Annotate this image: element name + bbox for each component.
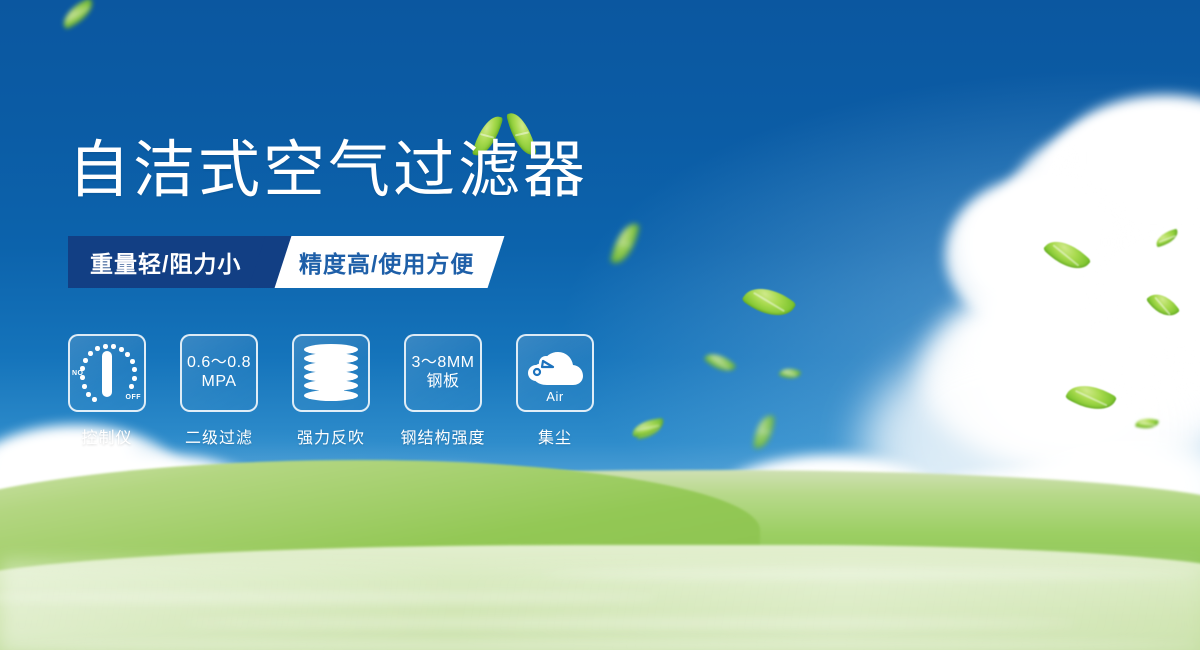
feature-icon-box: NO OFF <box>68 334 146 412</box>
feature-item-two-stage-filter[interactable]: 0.6～0.8 MPA 二级过滤 <box>180 334 258 448</box>
feature-label: 强力反吹 <box>297 424 365 448</box>
steel-material-line: 钢板 <box>412 373 475 392</box>
subtitle-left-segment: 重量轻/阻力小 <box>68 236 271 288</box>
feature-item-dust-collection[interactable]: Air 集尘 <box>516 334 594 448</box>
feature-list: NO OFF 控制仪 0.6～0.8 MPA 二级过滤 <box>68 334 594 448</box>
feature-icon-box <box>292 334 370 412</box>
air-cloud-icon: Air <box>523 343 587 403</box>
pressure-unit-line: MPA <box>187 373 251 392</box>
pressure-range-line: 0.6～0.8 <box>187 354 251 373</box>
gauge-off-label: OFF <box>126 394 142 401</box>
feature-icon-box: Air <box>516 334 594 412</box>
promo-banner: 自洁式空气过滤器 重量轻/阻力小 精度高/使用方便 <box>0 0 1200 650</box>
feature-label: 集尘 <box>538 424 572 448</box>
subtitle-right-segment: 精度高/使用方便 <box>263 236 505 288</box>
feature-icon-box: 3～8MM 钢板 <box>404 334 482 412</box>
filter-cartridge-icon <box>304 344 358 402</box>
steel-plate-text-icon: 3～8MM 钢板 <box>412 354 475 392</box>
feature-label: 控制仪 <box>81 424 132 448</box>
subtitle-bar: 重量轻/阻力小 精度高/使用方便 <box>68 236 497 288</box>
gauge-on-label: NO <box>72 370 84 377</box>
gauge-icon: NO OFF <box>74 342 140 404</box>
subtitle-right-text: 精度高/使用方便 <box>299 245 474 279</box>
feature-icon-box: 0.6～0.8 MPA <box>180 334 258 412</box>
steel-thickness-line: 3～8MM <box>412 354 475 373</box>
grass-stripe-2 <box>180 618 1080 628</box>
gauge-needle-icon <box>102 351 112 397</box>
feature-label: 二级过滤 <box>185 424 253 448</box>
feature-item-control-gauge[interactable]: NO OFF 控制仪 <box>68 334 146 448</box>
page-title: 自洁式空气过滤器 <box>68 140 588 202</box>
cloud-shape-icon <box>523 345 587 389</box>
grass-stripe-4 <box>0 640 1200 650</box>
grass-stripe-3 <box>540 570 1200 579</box>
feature-item-steel-strength[interactable]: 3～8MM 钢板 钢结构强度 <box>404 334 482 448</box>
feature-label: 钢结构强度 <box>401 424 486 448</box>
air-label: Air <box>523 389 587 404</box>
feature-item-backblow[interactable]: 强力反吹 <box>292 334 370 448</box>
pressure-text-icon: 0.6～0.8 MPA <box>187 354 251 392</box>
